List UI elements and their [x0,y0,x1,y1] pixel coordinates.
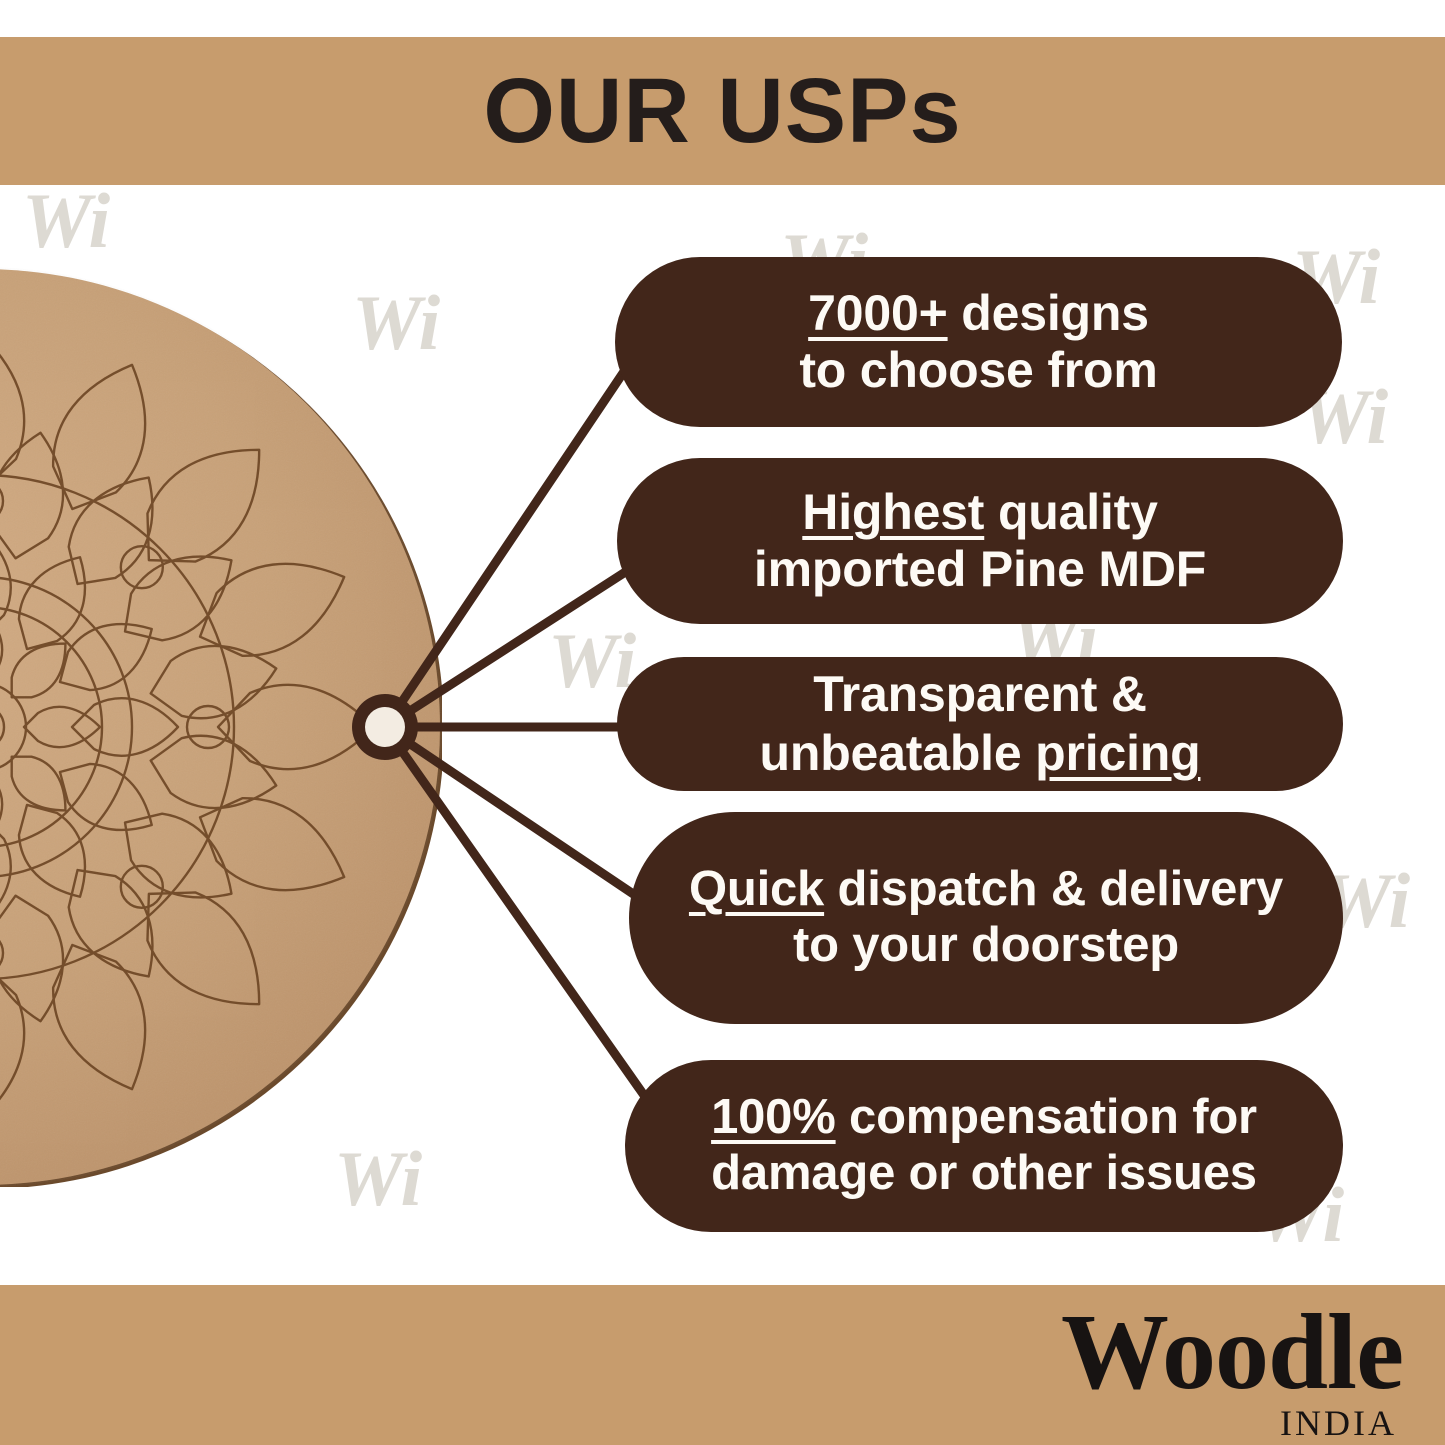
usp-highlight: 7000+ [808,285,947,341]
usp-card-text: Quick dispatch & delivery to your doorst… [689,862,1283,974]
usp-line-2: to choose from [799,342,1157,399]
connector-to-usp-5 [385,727,660,1118]
usp-line-2: damage or other issues [711,1146,1257,1202]
usp-line-1: Transparent & [760,665,1201,724]
usp-card-designs[interactable]: 7000+ designs to choose from [615,257,1342,427]
usp-line-1: 100% compensation for [711,1090,1257,1146]
brand-logo-wordmark: Woodle [973,1300,1403,1406]
usp-highlight: pricing [1035,725,1200,781]
usp-line-1-rest: designs [948,285,1149,341]
connector-to-usp-4 [385,727,660,912]
usp-line-1: 7000+ designs [799,285,1157,342]
connector-to-usp-2 [385,560,644,727]
usp-card-quality[interactable]: Highest quality imported Pine MDF [617,458,1343,624]
usp-card-text: 7000+ designs to choose from [799,285,1157,399]
usp-highlight: Highest [802,484,984,540]
usp-line-1-rest: compensation for [836,1090,1257,1144]
usp-line-2: imported Pine MDF [754,541,1206,598]
usp-line-2: unbeatable pricing [760,724,1201,783]
usp-card-dispatch[interactable]: Quick dispatch & delivery to your doorst… [629,812,1343,1024]
usp-line-2-pre: unbeatable [760,725,1036,781]
usp-card-text: 100% compensation for damage or other is… [711,1090,1257,1202]
usp-line-1: Highest quality [754,484,1206,541]
infographic-canvas: Wi Wi Wi Wi Wi Wi Wi Wi Wi Wi OUR USPs 7… [0,0,1445,1445]
usp-line-1-rest: quality [984,484,1157,540]
usp-card-text: Highest quality imported Pine MDF [754,484,1206,598]
usp-highlight: 100% [711,1090,836,1144]
page-title: OUR USPs [0,37,1445,185]
usp-card-text: Transparent & unbeatable pricing [760,665,1201,783]
usp-highlight: Quick [689,862,824,916]
hub-node-core [365,707,405,747]
usp-line-1: Quick dispatch & delivery [689,862,1283,918]
usp-line-1-rest: dispatch & delivery [824,862,1283,916]
usp-card-compensation[interactable]: 100% compensation for damage or other is… [625,1060,1343,1232]
usp-line-2: to your doorstep [689,918,1283,974]
brand-logo: Woodle INDIA [973,1300,1403,1432]
usp-card-pricing[interactable]: Transparent & unbeatable pricing [617,657,1343,791]
